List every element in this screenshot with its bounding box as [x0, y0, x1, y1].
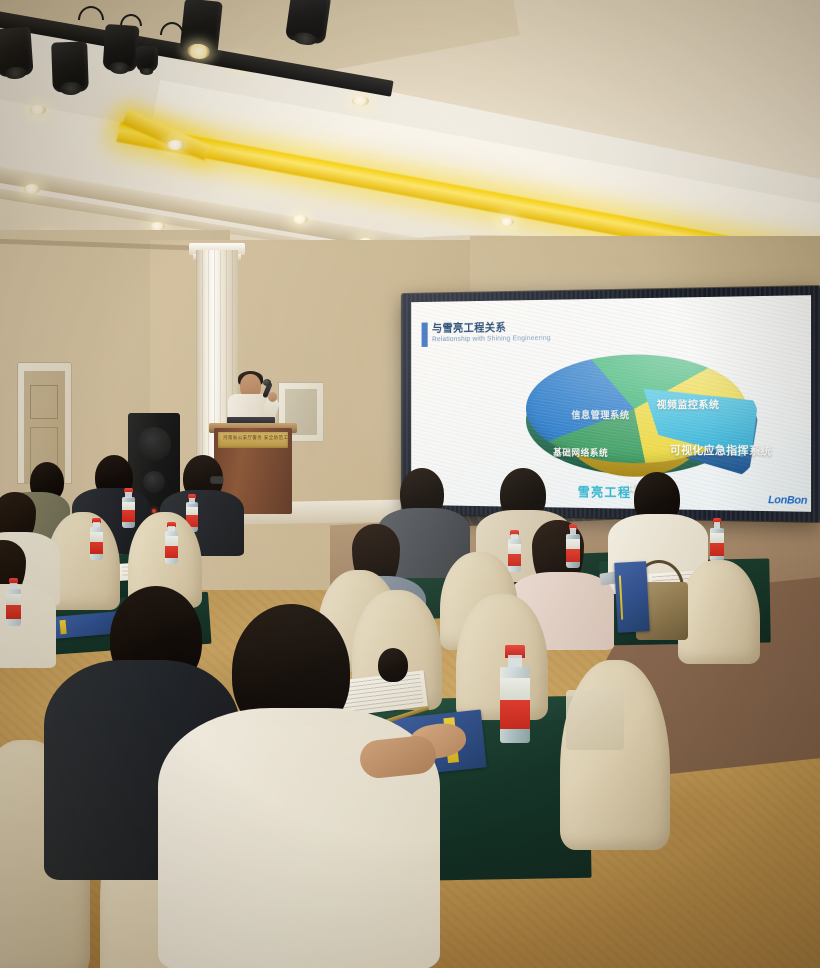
water-bottle: [508, 530, 521, 572]
slide-footer-label: 雪亮工程: [578, 482, 632, 501]
stage-light-icon: [51, 41, 89, 92]
bottle-label-white: [165, 536, 178, 545]
pie-label-info-management: 信息管理系统: [571, 407, 629, 422]
head: [378, 648, 408, 682]
speaker-driver: [143, 471, 165, 493]
podium-plaque: 河南省公安厅警务 安全防范工程研讨会: [218, 432, 288, 448]
bottle-label: [165, 546, 178, 559]
downlight-icon: [500, 218, 514, 226]
bottle-label: [122, 510, 135, 522]
title-accent-bar: [422, 323, 428, 347]
bottle-label-white: [566, 539, 580, 549]
led-display-screen[interactable]: 与雪亮工程关系 Relationship with Shining Engine…: [402, 286, 820, 522]
podium-plaque-text: 河南省公安厅警务 安全防范工程研讨会: [223, 435, 288, 441]
bottle-label: [90, 542, 103, 555]
downlight-icon: [30, 105, 46, 115]
bottle-label-white: [710, 533, 724, 543]
pie-label-video-monitoring: 视频监控系统: [657, 397, 720, 412]
chair: [678, 560, 760, 664]
stage-light-icon: [0, 27, 34, 77]
water-bottle: [165, 522, 178, 564]
water-bottle: [500, 645, 530, 743]
water-bottle: [566, 524, 580, 568]
downlight-icon: [352, 96, 369, 106]
door-panel: [30, 385, 58, 419]
bottle-label-white: [500, 678, 530, 700]
stage-light-icon: [285, 0, 331, 45]
water-bottle: [6, 578, 21, 626]
downlight-icon: [292, 215, 308, 224]
folder-stripe: [619, 575, 624, 620]
bottle-label: [500, 700, 530, 729]
audience-member: [378, 648, 408, 682]
downlight-icon: [167, 140, 184, 150]
microphone-head: [263, 379, 271, 386]
bottle-label: [508, 554, 521, 567]
bottle-label-white: [90, 532, 103, 541]
bottle-label: [710, 543, 724, 556]
stage-light-lens: [140, 68, 153, 75]
bottle-label-white: [122, 502, 135, 511]
stage-light-icon: [136, 46, 159, 73]
handbag: [566, 690, 624, 750]
eyeglasses-icon: [210, 476, 224, 484]
downlight-icon: [24, 184, 40, 194]
brand-logo: LonBon: [768, 494, 807, 507]
water-bottle: [710, 518, 724, 562]
bottle-label-white: [6, 594, 21, 605]
bottle-label-white: [508, 544, 521, 553]
speaker-driver: [137, 427, 171, 461]
presenter-hand: [268, 392, 277, 402]
pie-label-network-infrastructure: 基础网络系统: [553, 445, 608, 459]
conference-room-photo: 与雪亮工程关系 Relationship with Shining Engine…: [0, 0, 820, 968]
folder-stripe: [60, 620, 67, 635]
stage-light-icon: [102, 24, 139, 72]
stage-light-icon: [179, 0, 223, 58]
presentation-slide: 与雪亮工程关系 Relationship with Shining Engine…: [411, 295, 811, 512]
bottle-label: [6, 605, 21, 619]
blue-folder: [614, 561, 650, 633]
chair: [560, 660, 670, 850]
bottle-label-white: [186, 507, 198, 515]
screen-surface: 与雪亮工程关系 Relationship with Shining Engine…: [411, 295, 811, 512]
water-bottle: [122, 488, 135, 528]
water-bottle: [90, 518, 103, 560]
bottle-label: [566, 549, 580, 562]
pie-label-visual-command: 可视化应急指挥系统: [670, 442, 772, 459]
pie-chart: 视频监控系统 可视化应急指挥系统 其它系统 基础网络系统 信息管理系统: [519, 335, 782, 494]
